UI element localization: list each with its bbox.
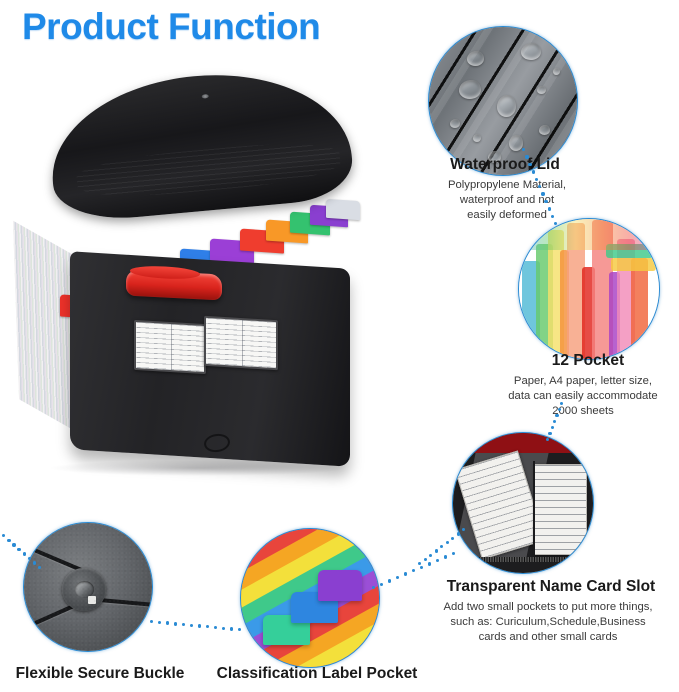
connector-dot xyxy=(404,572,407,575)
connector-dot xyxy=(444,555,447,558)
connector-dot xyxy=(214,626,217,629)
connector-dot xyxy=(174,622,177,625)
connector-dot xyxy=(412,569,415,572)
connector-dot xyxy=(436,559,439,562)
connector-classification-label xyxy=(0,0,679,692)
connector-dot xyxy=(230,627,233,630)
connector-dot xyxy=(388,579,391,582)
connector-dot xyxy=(166,621,169,624)
connector-dot xyxy=(238,628,241,631)
connector-dot xyxy=(198,624,201,627)
connector-dot xyxy=(182,623,185,626)
connector-dot xyxy=(396,576,399,579)
connector-dot xyxy=(190,624,193,627)
connector-dot xyxy=(452,552,455,555)
connector-dot xyxy=(222,627,225,630)
connector-dot xyxy=(206,625,209,628)
connector-dot xyxy=(372,586,375,589)
connector-dot xyxy=(158,621,161,624)
connector-dot xyxy=(150,620,153,623)
connector-dot xyxy=(428,562,431,565)
connector-dot xyxy=(420,566,423,569)
connector-dot xyxy=(380,583,383,586)
